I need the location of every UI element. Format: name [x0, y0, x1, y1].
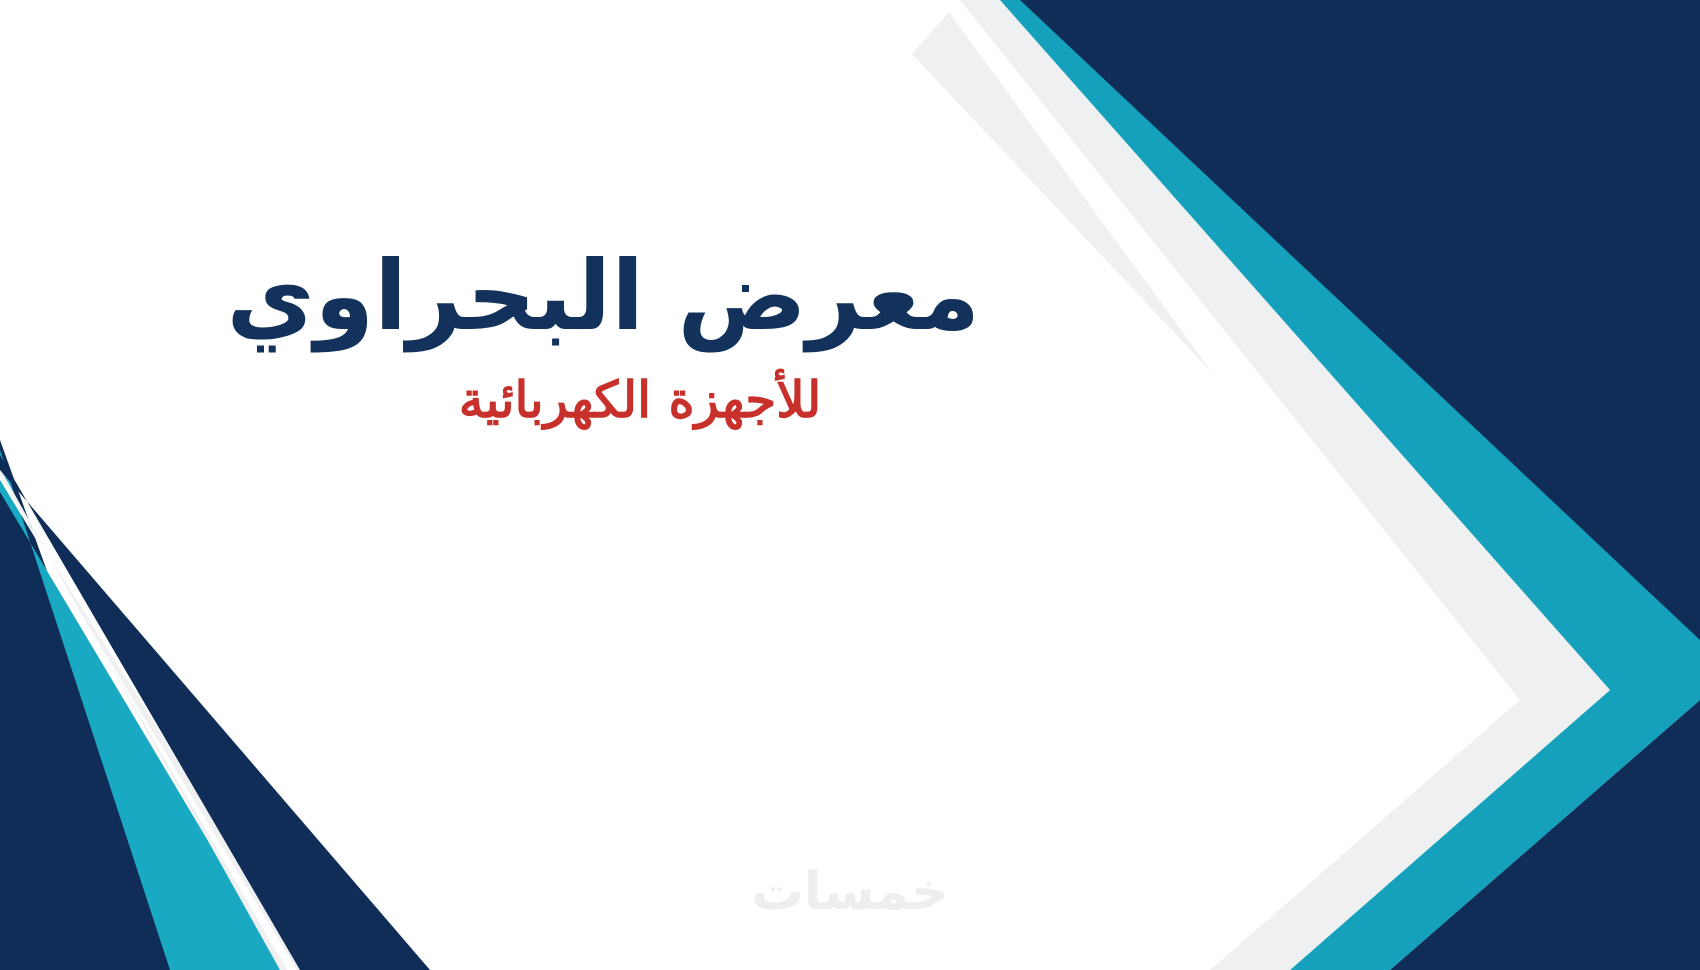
brand-subtitle: للأجهزة الكهربائية	[300, 367, 980, 432]
decorative-graphics-layer	[0, 0, 1700, 970]
logo-canvas: معرض البحراوي للأجهزة الكهربائية خمسات	[0, 0, 1700, 970]
brand-text-block: معرض البحراوي للأجهزة الكهربائية	[300, 240, 980, 432]
brand-title: معرض البحراوي	[300, 240, 980, 353]
